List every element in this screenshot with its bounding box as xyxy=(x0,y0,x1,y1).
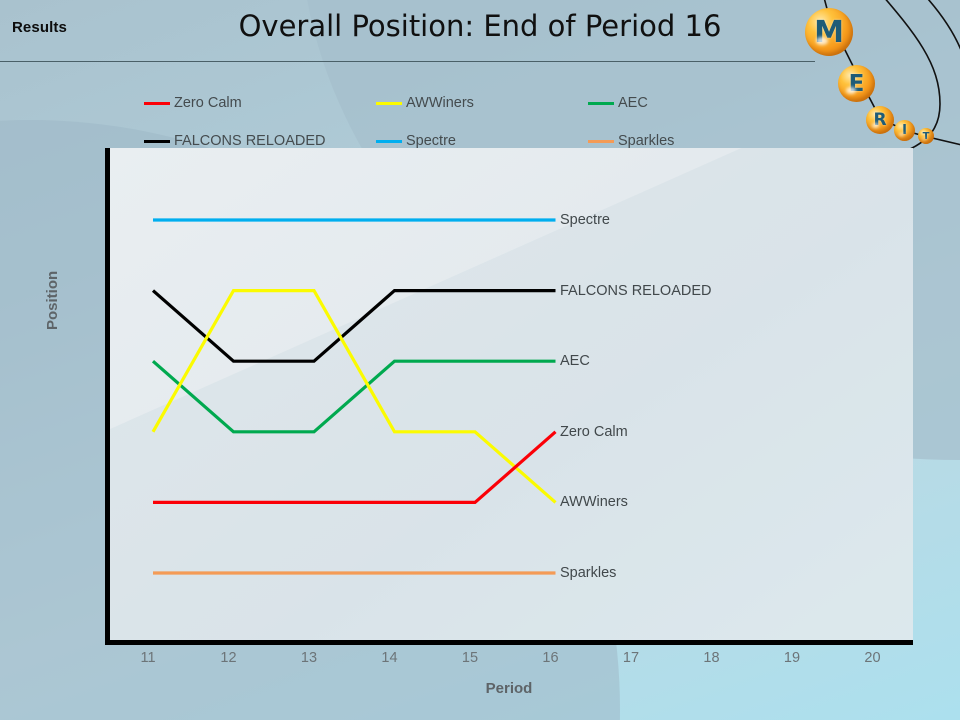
legend-item-zero-calm: Zero Calm xyxy=(144,95,376,111)
legend-item-aec: AEC xyxy=(588,95,738,111)
chart-plot-wrapper: SpectreFALCONS RELOADEDAECAWWinersZero C… xyxy=(105,148,913,645)
series-line-zero-calm xyxy=(153,432,556,503)
legend-swatch-icon xyxy=(144,140,170,143)
results-label: Results xyxy=(12,19,67,36)
legend-item-falcons-reloaded: FALCONS RELOADED xyxy=(144,133,376,149)
logo-bead-e: E xyxy=(838,65,875,102)
chart-series-svg xyxy=(110,148,913,645)
legend-label: Sparkles xyxy=(618,133,674,149)
x-tick-20: 20 xyxy=(864,650,880,666)
x-tick-16: 16 xyxy=(542,650,558,666)
legend-label: AWWiners xyxy=(406,95,474,111)
end-label-awwiners: AWWiners xyxy=(560,494,628,510)
legend-row-1: Zero Calm AWWiners AEC xyxy=(144,84,744,122)
x-tick-11: 11 xyxy=(140,650,155,666)
x-tick-17: 17 xyxy=(623,650,639,666)
legend-label: AEC xyxy=(618,95,648,111)
end-label-spectre: Spectre xyxy=(560,212,610,228)
legend-swatch-icon xyxy=(588,102,614,105)
legend-label: FALCONS RELOADED xyxy=(174,133,326,149)
x-tick-13: 13 xyxy=(301,650,317,666)
legend-swatch-icon xyxy=(376,102,402,105)
legend-swatch-icon xyxy=(376,140,402,143)
legend-item-awwiners: AWWiners xyxy=(376,95,588,111)
end-label-sparkles: Sparkles xyxy=(560,565,616,581)
legend-swatch-icon xyxy=(144,102,170,105)
end-label-zero-calm: Zero Calm xyxy=(560,424,628,440)
logo-bead-i: I xyxy=(894,120,915,141)
chart-plot-area xyxy=(105,148,913,645)
logo-bead-t: T xyxy=(918,128,934,144)
x-tick-14: 14 xyxy=(381,650,397,666)
x-axis-title: Period xyxy=(105,680,913,697)
x-tick-19: 19 xyxy=(784,650,800,666)
legend-item-sparkles: Sparkles xyxy=(588,133,738,149)
slide-header: Results Overall Position: End of Period … xyxy=(0,0,960,62)
legend-label: Spectre xyxy=(406,133,456,149)
end-label-aec: AEC xyxy=(560,353,590,369)
series-line-aec xyxy=(153,361,556,432)
x-tick-15: 15 xyxy=(462,650,478,666)
logo-bead-r: R xyxy=(866,106,894,134)
end-label-falcons-reloaded: FALCONS RELOADED xyxy=(560,283,712,299)
legend-item-spectre: Spectre xyxy=(376,133,588,149)
title-divider xyxy=(0,61,815,62)
legend-label: Zero Calm xyxy=(174,95,242,111)
legend-swatch-icon xyxy=(588,140,614,143)
x-tick-12: 12 xyxy=(220,650,236,666)
y-axis-title: Position xyxy=(44,271,61,330)
slide-canvas: Results Overall Position: End of Period … xyxy=(0,0,960,720)
x-axis-ticks: 11121314151617181920 xyxy=(105,650,913,672)
x-tick-18: 18 xyxy=(703,650,719,666)
page-title: Overall Position: End of Period 16 xyxy=(120,9,840,43)
